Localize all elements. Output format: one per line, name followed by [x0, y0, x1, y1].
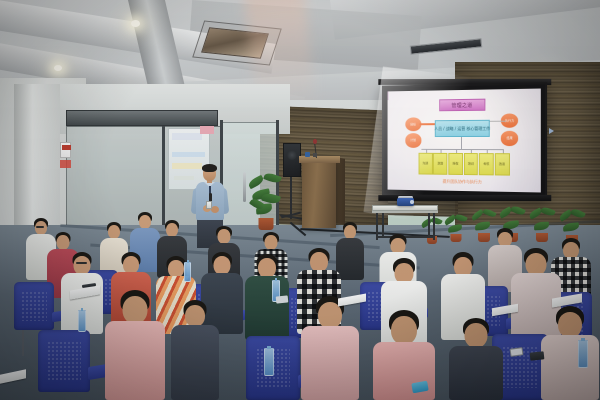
- slide-connector-down: [461, 137, 462, 148]
- slide-box-label: 授权: [453, 162, 459, 165]
- wall-sign: [60, 142, 71, 158]
- chair-back: [38, 330, 90, 392]
- presenter-hand-right: [211, 206, 219, 213]
- plant-leaf: [454, 213, 467, 224]
- presenter-hair: [202, 164, 217, 172]
- attendee-head: [218, 229, 231, 244]
- slide-content: 管理之道 目标 计划 执行力 结果 人员 / 战略 / 运营: [388, 89, 541, 193]
- attendee-head: [391, 316, 417, 345]
- slide-footer-text: 提升团队协作与执行力: [443, 179, 482, 186]
- whiteboard-content: [172, 152, 205, 157]
- slide-bottom-box: 考核: [479, 153, 494, 176]
- eyeglasses-icon: [36, 226, 44, 228]
- slide-box-label: 激励: [437, 162, 443, 165]
- wall-arrow-marker: [549, 128, 554, 134]
- downlight-icon: [131, 20, 140, 27]
- table-leg: [428, 212, 430, 238]
- slide-box-label: 培训: [468, 162, 474, 165]
- downlight-icon: [54, 65, 62, 71]
- plant-leaf: [534, 222, 549, 231]
- door-transom: [66, 110, 218, 126]
- slide-title-box: 管理之道: [439, 99, 485, 112]
- slide-bottom-box: 沟通: [418, 152, 432, 174]
- whiteboard-content: [172, 163, 202, 169]
- water-bottle[interactable]: [264, 348, 274, 376]
- plant-pot: [259, 218, 274, 230]
- slide-box-label: 沟通: [422, 162, 428, 165]
- attendee-head: [185, 305, 205, 327]
- potted-plant: [246, 172, 286, 230]
- slide-box-label: 改进: [499, 162, 505, 165]
- plant-leaf: [540, 205, 556, 217]
- chair-leg: [22, 330, 24, 356]
- presenter-badge: [206, 201, 212, 209]
- attendee-torso: [449, 346, 503, 400]
- potted-plant: [420, 216, 444, 244]
- potted-plant: [528, 206, 556, 242]
- plant-leaf: [247, 175, 265, 190]
- water-bottle[interactable]: [184, 262, 191, 282]
- projection-screen: 管理之道 目标 计划 执行力 结果 人员 / 战略 / 运营: [382, 82, 547, 199]
- plant-leaf: [263, 171, 282, 184]
- whiteboard-content: [174, 176, 194, 180]
- plant-leaf: [570, 207, 586, 220]
- plant-leaf: [563, 222, 580, 231]
- slide-circle-label: 执行力: [505, 119, 514, 122]
- slide-bottom-box: 激励: [433, 152, 447, 174]
- attendee-torso: [541, 335, 599, 400]
- attendee-torso: [301, 326, 359, 400]
- plant-leaf: [448, 224, 463, 232]
- plant-pot: [536, 233, 548, 242]
- attendee: [300, 296, 360, 400]
- slide-bottom-box: 授权: [448, 153, 462, 175]
- attendee-torso: [373, 342, 435, 400]
- slide-box-label: 考核: [483, 162, 489, 165]
- slide-center-text: 人员 / 战略 / 运营 核心管理工作: [434, 126, 490, 132]
- smartphone[interactable]: [530, 351, 545, 360]
- speaker-cone-icon: [287, 150, 297, 160]
- conference-room-photo: 管理之道 目标 计划 执行力 结果 人员 / 战略 / 运营: [0, 0, 600, 400]
- plant-pot: [451, 234, 462, 242]
- slide-bottom-box: 改进: [495, 153, 510, 176]
- slide-circle-label: 结果: [506, 137, 512, 140]
- attendee-torso: [245, 276, 289, 340]
- attendee-head: [139, 215, 151, 229]
- attendee-head: [310, 252, 328, 272]
- attendee-torso: [171, 325, 219, 400]
- slide-connector-vertical: [388, 91, 389, 100]
- attendee-head: [344, 225, 356, 239]
- slide-connector-horizontal: [421, 148, 504, 149]
- slide-title-text: 管理之道: [451, 101, 472, 108]
- plant-leaf: [510, 204, 526, 216]
- attendee-head: [57, 235, 70, 250]
- attendee: [448, 318, 504, 400]
- potted-plant: [443, 212, 469, 242]
- attendee-head: [258, 258, 276, 278]
- attendee: [540, 306, 600, 400]
- plant-leaf: [482, 207, 496, 218]
- slide-circle-label: 目标: [410, 123, 416, 126]
- attendee-head: [166, 223, 178, 237]
- lectern-item: [305, 152, 310, 157]
- slide-circle-left-2: 计划: [405, 134, 421, 148]
- slide-circle-right-2: 结果: [501, 131, 518, 145]
- lectern-item: [313, 153, 317, 157]
- lectern-top: [299, 156, 340, 163]
- attendee: [104, 290, 166, 400]
- projection-screen-surface: 管理之道 目标 计划 执行力 结果 人员 / 战略 / 运营: [388, 89, 541, 193]
- slide-bottom-box: 培训: [464, 153, 479, 175]
- slide-circle-label: 计划: [410, 139, 416, 142]
- attendee-head: [465, 323, 488, 348]
- whiteboard-content: [172, 133, 202, 140]
- smartphone[interactable]: [276, 295, 289, 303]
- wall-sign-secondary: [60, 160, 71, 168]
- attendee: [170, 300, 220, 400]
- attendee-head: [123, 296, 148, 324]
- water-bottle[interactable]: [78, 310, 86, 332]
- wall-poster: [200, 126, 214, 134]
- microphone-icon: [313, 139, 317, 144]
- water-bottle[interactable]: [578, 340, 588, 368]
- chair-back: [14, 282, 54, 330]
- projector-lens-icon: [410, 200, 414, 204]
- eyeglasses-icon: [76, 262, 87, 264]
- attendee-head: [108, 225, 120, 239]
- attendee-head: [265, 235, 278, 250]
- slide-center-box: 人员 / 战略 / 运营 核心管理工作: [435, 120, 490, 137]
- air-vent: [410, 38, 483, 54]
- lectern-side: [336, 157, 345, 225]
- attendee-torso: [105, 321, 165, 400]
- lectern: [302, 160, 336, 228]
